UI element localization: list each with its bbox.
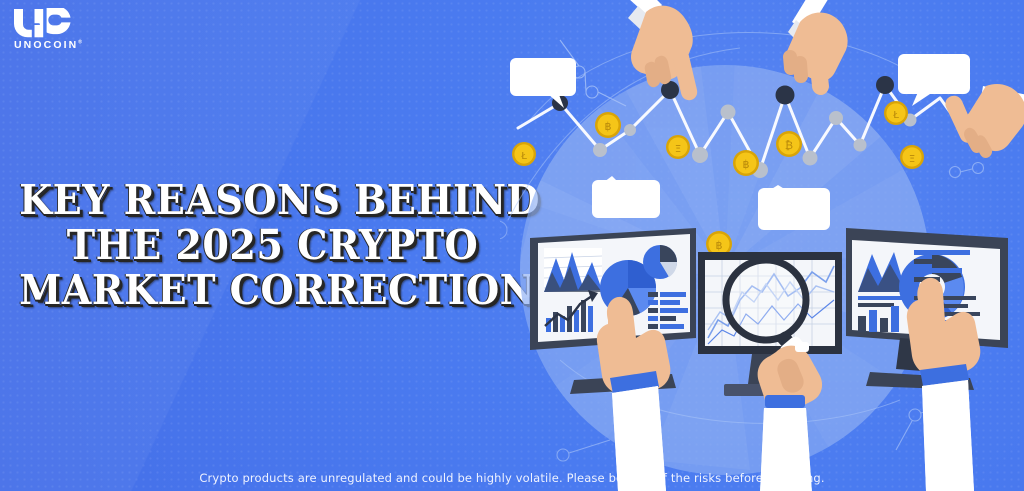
trademark-symbol: ® xyxy=(78,40,82,46)
svg-text:Ł: Ł xyxy=(520,151,527,162)
svg-text:฿: ฿ xyxy=(716,239,723,252)
speech-bubble xyxy=(758,185,830,230)
coin: Ł xyxy=(884,101,908,125)
hero-illustration: ฿ Ł Ξ ฿ ₿ ฿ Ł Ξ xyxy=(500,0,1024,491)
promotional-banner: UNOCOIN® KEY REASONS BEHIND THE 2025 CRY… xyxy=(0,0,1024,491)
hand-pointing-left xyxy=(945,84,1024,158)
coin: ฿ xyxy=(595,112,621,138)
pie-chart-small xyxy=(643,245,677,279)
svg-text:Ł: Ł xyxy=(892,110,899,121)
brand-wordmark: UNOCOIN® xyxy=(12,39,132,51)
network-nodes-bottom xyxy=(557,440,610,461)
unocoin-uc-monogram-icon xyxy=(12,8,76,38)
illustration-svg: ฿ Ł Ξ ฿ ₿ ฿ Ł Ξ xyxy=(500,0,1024,491)
coin: ₿ xyxy=(776,131,802,157)
headline-line-3: MARKET CORRECTION! xyxy=(19,268,526,313)
coin: Ξ xyxy=(900,145,924,169)
coin: ฿ xyxy=(733,150,759,176)
disclaimer-text: Crypto products are unregulated and coul… xyxy=(0,471,1024,485)
headline-line-1: KEY REASONS BEHIND xyxy=(19,178,526,223)
brand-logo[interactable]: UNOCOIN® xyxy=(12,8,132,51)
svg-text:Ξ: Ξ xyxy=(675,144,681,155)
brand-name-text: UNOCOIN xyxy=(14,39,78,51)
coin: Ξ xyxy=(666,135,690,159)
svg-text:Ξ: Ξ xyxy=(909,154,915,165)
svg-text:฿: ฿ xyxy=(743,158,750,171)
coin: Ł xyxy=(512,142,536,166)
headline-line-2: THE 2025 CRYPTO xyxy=(19,223,526,268)
page-title: KEY REASONS BEHIND THE 2025 CRYPTO MARKE… xyxy=(19,178,526,313)
svg-text:฿: ฿ xyxy=(605,120,612,133)
svg-text:₿: ₿ xyxy=(785,139,793,152)
speech-bubble xyxy=(592,176,660,218)
